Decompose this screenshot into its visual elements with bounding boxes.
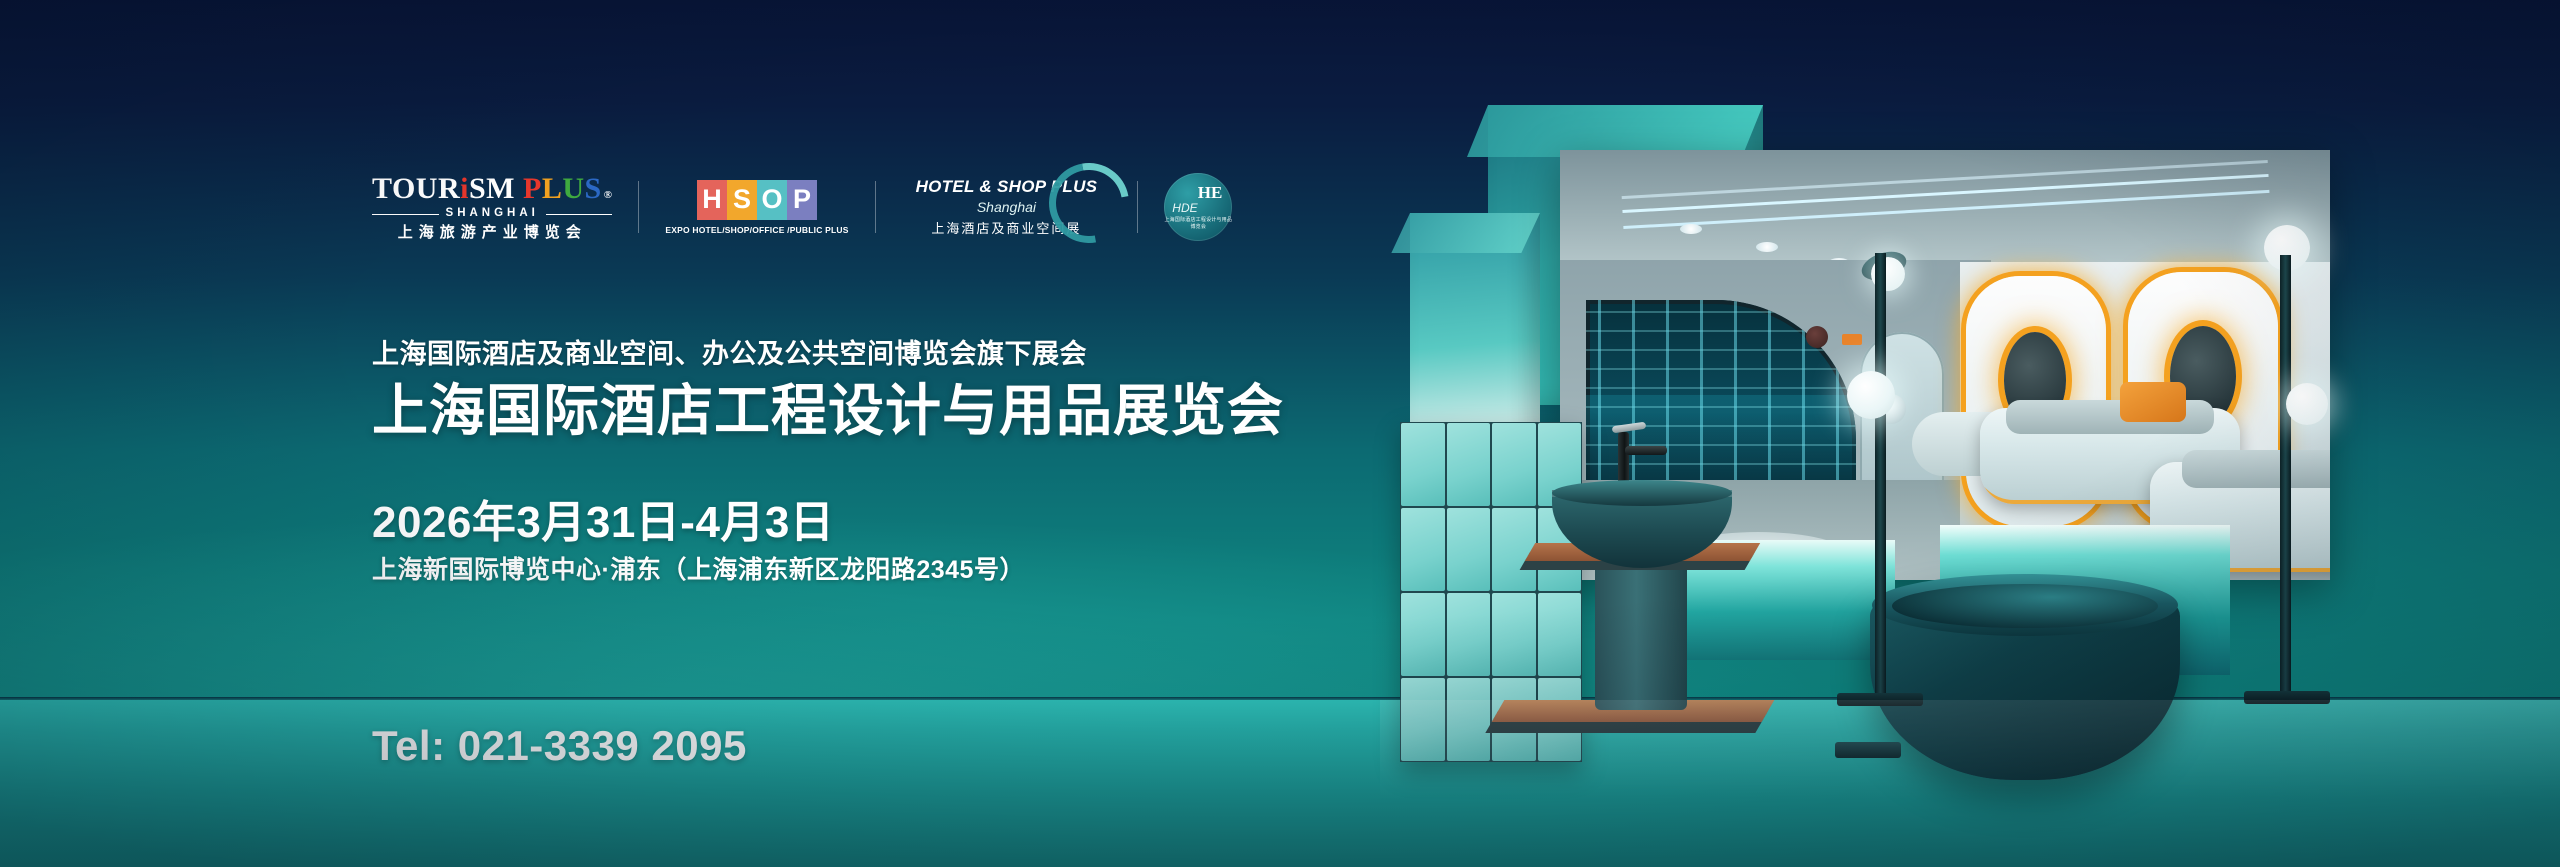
orange-pillow xyxy=(2120,382,2186,422)
bathtub-interior xyxy=(1892,584,2158,628)
hsp-city-label: Shanghai xyxy=(977,199,1036,215)
wall-clock xyxy=(1806,326,1828,348)
floor-accessory-block xyxy=(1835,742,1901,758)
logo-divider xyxy=(1137,181,1138,233)
event-venue: 上海新国际博览中心·浦东（上海浦东新区龙阳路2345号） xyxy=(372,550,1025,586)
lamp-globe xyxy=(2286,383,2328,425)
photo-ceiling xyxy=(1560,150,2330,270)
hotel-shop-plus-logo[interactable]: HOTEL & SHOP PLUS Shanghai 上海酒店及商业空间展 xyxy=(902,177,1112,237)
rule-left xyxy=(372,214,439,215)
registered-mark-icon: ® xyxy=(604,190,613,201)
tile xyxy=(1538,593,1582,676)
tourism-shanghai-row: SHANGHAI xyxy=(372,208,612,220)
page-title: 上海国际酒店工程设计与用品展览会 xyxy=(372,366,1284,447)
hde-mark-label: HE xyxy=(1198,184,1223,201)
hde-chinese-label: 上海国际酒店工程设计与用品博览会 xyxy=(1164,217,1232,231)
product-scene xyxy=(1380,0,2560,867)
tourism-word-s: S xyxy=(585,174,602,204)
lamp-base xyxy=(2244,691,2330,704)
logo-strip: TOURiSM PLUS® SHANGHAI 上海旅游产业博览会 H S O P… xyxy=(372,170,1232,244)
exit-sign xyxy=(1842,334,1862,345)
tourism-plus-wordmark: TOURiSM PLUS® xyxy=(372,174,612,204)
tile xyxy=(1492,593,1536,676)
bed-sheet xyxy=(2182,450,2330,488)
tourism-word-u: U xyxy=(562,174,584,204)
lamp-base xyxy=(1837,693,1923,706)
vessel-basin-rim xyxy=(1552,480,1732,506)
event-date: 2026年3月31日-4月3日 xyxy=(372,486,834,550)
hde-badge-logo[interactable]: HE HDE 上海国际酒店工程设计与用品博览会 xyxy=(1164,173,1232,241)
hsop-letter-s: S xyxy=(727,180,757,220)
hde-abbr-label: HDE xyxy=(1172,202,1197,214)
hsop-tagline: EXPO HOTEL/SHOP/OFFICE /PUBLIC PLUS xyxy=(665,225,848,235)
tourism-word-p: P xyxy=(523,174,542,204)
tile xyxy=(1492,508,1536,591)
text-column: TOURiSM PLUS® SHANGHAI 上海旅游产业博览会 H S O P… xyxy=(372,0,1492,867)
hsop-letter-o: O xyxy=(757,180,787,220)
tourism-chinese-label: 上海旅游产业博览会 xyxy=(398,225,587,240)
tourism-word-tour: TOUR xyxy=(372,174,460,204)
logo-divider xyxy=(875,181,876,233)
tourism-plus-logo[interactable]: TOURiSM PLUS® SHANGHAI 上海旅游产业博览会 xyxy=(372,174,612,240)
hsop-logo[interactable]: H S O P EXPO HOTEL/SHOP/OFFICE /PUBLIC P… xyxy=(665,180,848,235)
contact-telephone: Tel: 021-3339 2095 xyxy=(372,722,747,770)
hsop-letter-blocks: H S O P xyxy=(697,180,817,220)
lamp-pole xyxy=(2280,255,2291,693)
tourism-shanghai-label: SHANGHAI xyxy=(446,208,539,220)
tile xyxy=(1492,423,1536,506)
lamp-pole xyxy=(1875,253,1886,695)
hsop-letter-p: P xyxy=(787,180,817,220)
hsop-letter-h: H xyxy=(697,180,727,220)
faucet-spout xyxy=(1625,446,1667,455)
lamp-globe xyxy=(1847,371,1895,419)
tourism-word-l: L xyxy=(542,174,563,204)
tourism-word-sm: SM xyxy=(469,174,515,204)
sink-pedestal xyxy=(1595,555,1687,710)
exhibition-banner: TOURiSM PLUS® SHANGHAI 上海旅游产业博览会 H S O P… xyxy=(0,0,2560,867)
ceiling-downlight xyxy=(1680,224,1702,234)
logo-divider xyxy=(638,181,639,233)
ceiling-downlight xyxy=(1756,242,1778,252)
tourism-word-i: i xyxy=(460,174,469,204)
swoosh-ring-icon xyxy=(1034,147,1145,258)
rule-right xyxy=(546,214,613,215)
